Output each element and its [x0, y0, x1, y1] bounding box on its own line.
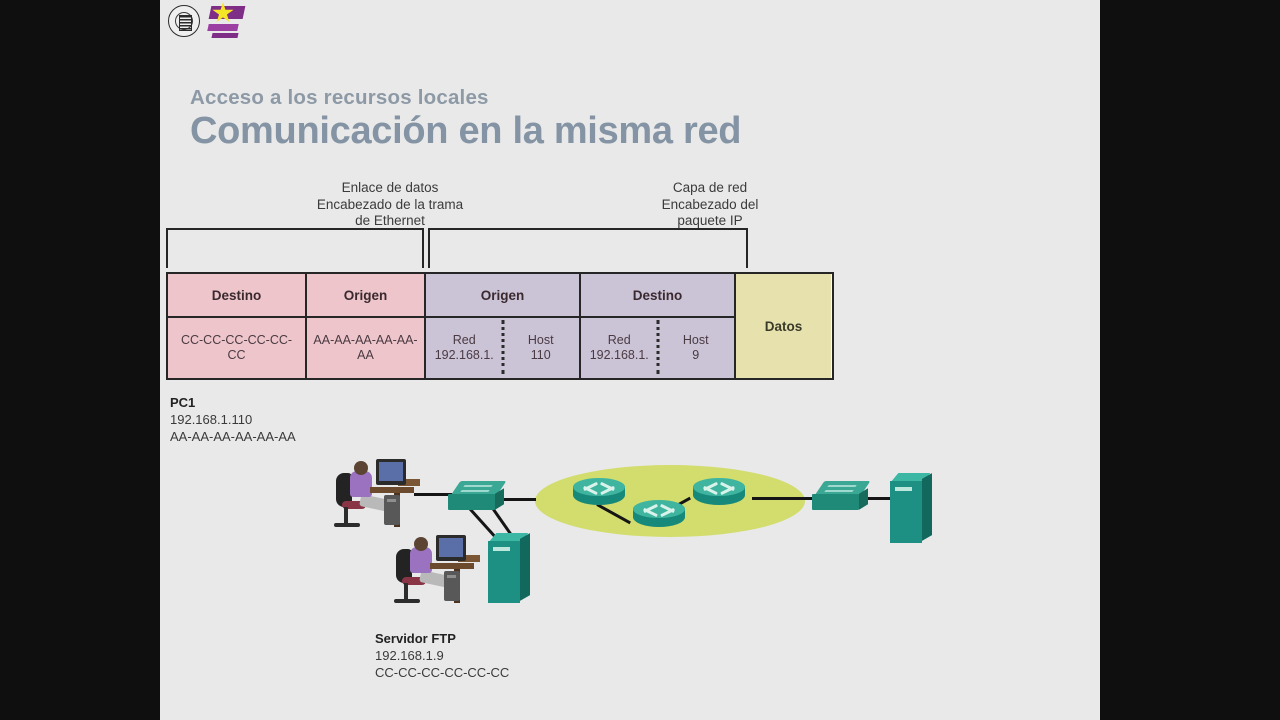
purple-star-mark-icon: [206, 4, 248, 40]
switch-remote: [812, 481, 868, 511]
ftp-mac: CC-CC-CC-CC-CC-CC: [375, 665, 509, 680]
network-layer-line-2: Encabezado del: [560, 197, 860, 214]
data-link-line-2: Encabezado de la trama: [230, 197, 550, 214]
ip-destination-host-cell: Host 9: [658, 318, 735, 378]
letterbox-left: [0, 0, 160, 720]
letterbox-right: [1100, 0, 1280, 720]
ip-destination-host-value: 9: [692, 348, 699, 362]
ethernet-destination-value: CC-CC-CC-CC-CC-CC: [168, 318, 305, 378]
slide-canvas: Acceso a los recursos locales Comunicaci…: [160, 0, 1100, 720]
workstation-pc2: [392, 533, 492, 613]
ip-destination-network-cell: Red 192.168.1.: [581, 318, 658, 378]
ip-destination-header: Destino: [581, 274, 734, 318]
pc1-label: PC1 192.168.1.110 AA-AA-AA-AA-AA-AA: [170, 394, 296, 445]
pc1-title: PC1: [170, 395, 195, 410]
ethernet-source-column: Origen AA-AA-AA-AA-AA-AA: [307, 274, 426, 378]
network-layer-bracket-label: Capa de red Encabezado del paquete IP: [560, 180, 860, 230]
payload-column: Datos: [736, 274, 831, 378]
lan-switch-left: [448, 481, 504, 511]
pc1-mac: AA-AA-AA-AA-AA-AA: [170, 429, 296, 444]
pc1-ip: 192.168.1.110: [170, 412, 252, 427]
data-link-line-1: Enlace de datos: [230, 180, 550, 197]
ip-source-header: Origen: [426, 274, 579, 318]
router-wan-3: [693, 477, 745, 511]
ip-destination-net-label: Red: [608, 333, 631, 347]
data-link-bracket-label: Enlace de datos Encabezado de la trama d…: [230, 180, 550, 230]
router-wan-2: [633, 499, 685, 533]
ftp-ip: 192.168.1.9: [375, 648, 444, 663]
server-remote: [890, 473, 932, 543]
wire-router3-switch2: [752, 497, 820, 500]
payload-header: Datos: [736, 274, 831, 378]
ip-source-host-cell: Host 110: [503, 318, 580, 378]
ip-source-column: Origen Red 192.168.1. Host 110: [426, 274, 581, 378]
workstation-pc1: [332, 457, 432, 537]
university-crest-icon: [168, 5, 200, 37]
network-topology-diagram: [160, 455, 1100, 645]
ip-destination-net-value: 192.168.1.: [590, 348, 649, 362]
screen: Acceso a los recursos locales Comunicaci…: [0, 0, 1280, 720]
ip-destination-column: Destino Red 192.168.1. Host 9: [581, 274, 736, 378]
ip-source-net-value: 192.168.1.: [435, 348, 494, 362]
router-wan-1: [573, 477, 625, 511]
ip-destination-divider: [656, 320, 659, 374]
ip-source-host-label: Host: [528, 333, 554, 347]
data-link-bracket-shape: [166, 228, 424, 268]
ethernet-source-value: AA-AA-AA-AA-AA-AA: [307, 318, 424, 378]
ip-destination-host-label: Host: [683, 333, 709, 347]
slide-title: Comunicación en la misma red: [190, 110, 741, 153]
slide-kicker: Acceso a los recursos locales: [190, 86, 489, 110]
institution-logo: [164, 2, 249, 42]
packet-structure-table: Destino CC-CC-CC-CC-CC-CC Origen AA-AA-A…: [166, 272, 834, 380]
ip-source-net-label: Red: [453, 333, 476, 347]
ethernet-source-header: Origen: [307, 274, 424, 318]
ftp-server: [488, 533, 530, 603]
network-layer-bracket-shape: [428, 228, 748, 268]
ethernet-destination-column: Destino CC-CC-CC-CC-CC-CC: [168, 274, 307, 378]
ip-source-host-value: 110: [531, 348, 551, 362]
ip-source-divider: [501, 320, 504, 374]
ethernet-destination-header: Destino: [168, 274, 305, 318]
network-layer-line-1: Capa de red: [560, 180, 860, 197]
ip-source-network-cell: Red 192.168.1.: [426, 318, 503, 378]
